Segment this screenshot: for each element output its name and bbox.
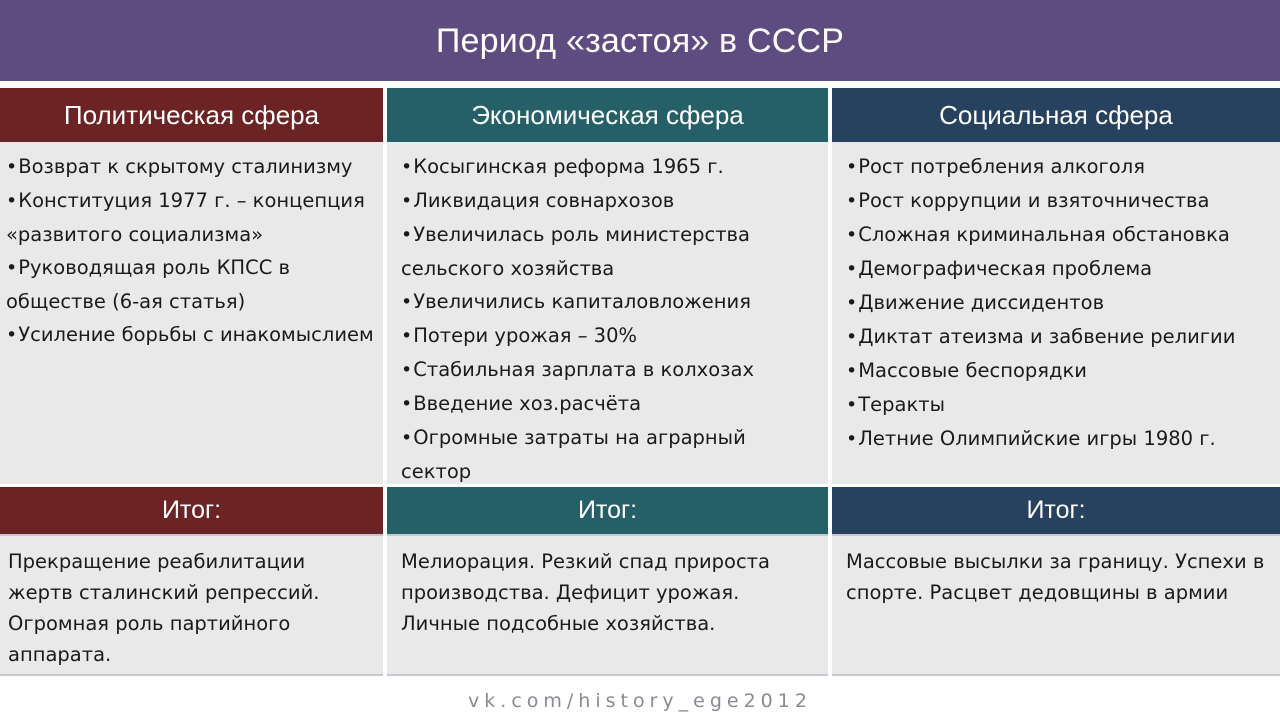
list-item: Потери урожая – 30%: [401, 319, 820, 353]
footer-watermark-text: vk.com/history_ege2012: [468, 690, 812, 712]
list-item: Руководящая роль КПСС в обществе (6-ая с…: [6, 251, 375, 318]
column-header-political: Политическая сфера: [0, 88, 383, 142]
list-item: Демографическая проблема: [846, 252, 1272, 286]
summary-label-political: Итог:: [162, 498, 221, 523]
summary-text-social: Массовые высылки за границу. Успехи в сп…: [832, 534, 1280, 676]
list-item: Теракты: [846, 388, 1272, 422]
list-item: Косыгинская реформа 1965 г.: [401, 150, 820, 184]
bullet-list-political: Возврат к скрытому сталинизму Конституци…: [6, 150, 375, 352]
list-item: Огромные затраты на аграрный сектор: [401, 421, 820, 484]
list-item: Рост потребления алкоголя: [846, 150, 1272, 184]
list-item: Конституция 1977 г. – концепция «развито…: [6, 184, 375, 251]
list-item: Увеличились капиталовложения: [401, 285, 820, 319]
summary-text-political: Прекращение реабилитации жертв сталински…: [0, 534, 383, 676]
slide-title: Период «застоя» в СССР: [436, 24, 844, 58]
slide-title-banner: Период «застоя» в СССР: [0, 0, 1280, 81]
list-item: Рост коррупции и взяточничества: [846, 184, 1272, 218]
summary-label-economic: Итог:: [578, 498, 637, 523]
list-item: Ликвидация совнархозов: [401, 184, 820, 218]
bullet-list-economic: Косыгинская реформа 1965 г. Ликвидация с…: [401, 150, 820, 484]
footer-watermark: vk.com/history_ege2012: [0, 684, 1280, 718]
list-item: Движение диссидентов: [846, 286, 1272, 320]
column-header-political-label: Политическая сфера: [64, 102, 319, 128]
list-item: Увеличилась роль министерства сельского …: [401, 218, 820, 285]
column-body-economic: Косыгинская реформа 1965 г. Ликвидация с…: [387, 142, 828, 484]
summary-text-economic: Мелиорация. Резкий спад прироста произво…: [387, 534, 828, 676]
comparison-table: Политическая сфера Экономическая сфера С…: [0, 88, 1280, 676]
list-item: Летние Олимпийские игры 1980 г.: [846, 422, 1272, 456]
bullet-list-social: Рост потребления алкоголя Рост коррупции…: [846, 150, 1272, 456]
column-header-economic-label: Экономическая сфера: [471, 102, 744, 128]
summary-header-political: Итог:: [0, 487, 383, 534]
summary-label-social: Итог:: [1026, 498, 1085, 523]
summary-header-social: Итог:: [832, 487, 1280, 534]
column-body-social: Рост потребления алкоголя Рост коррупции…: [832, 142, 1280, 484]
column-header-social-label: Социальная сфера: [939, 102, 1173, 128]
list-item: Введение хоз.расчёта: [401, 387, 820, 421]
list-item: Стабильная зарплата в колхозах: [401, 353, 820, 387]
column-body-political: Возврат к скрытому сталинизму Конституци…: [0, 142, 383, 484]
list-item: Усиление борьбы с инакомыслием: [6, 318, 375, 352]
column-header-social: Социальная сфера: [832, 88, 1280, 142]
summary-header-economic: Итог:: [387, 487, 828, 534]
list-item: Возврат к скрытому сталинизму: [6, 150, 375, 184]
list-item: Массовые беспорядки: [846, 354, 1272, 388]
list-item: Диктат атеизма и забвение религии: [846, 320, 1272, 354]
list-item: Сложная криминальная обстановка: [846, 218, 1272, 252]
column-header-economic: Экономическая сфера: [387, 88, 828, 142]
slide-root: Период «застоя» в СССР Политическая сфер…: [0, 0, 1280, 727]
